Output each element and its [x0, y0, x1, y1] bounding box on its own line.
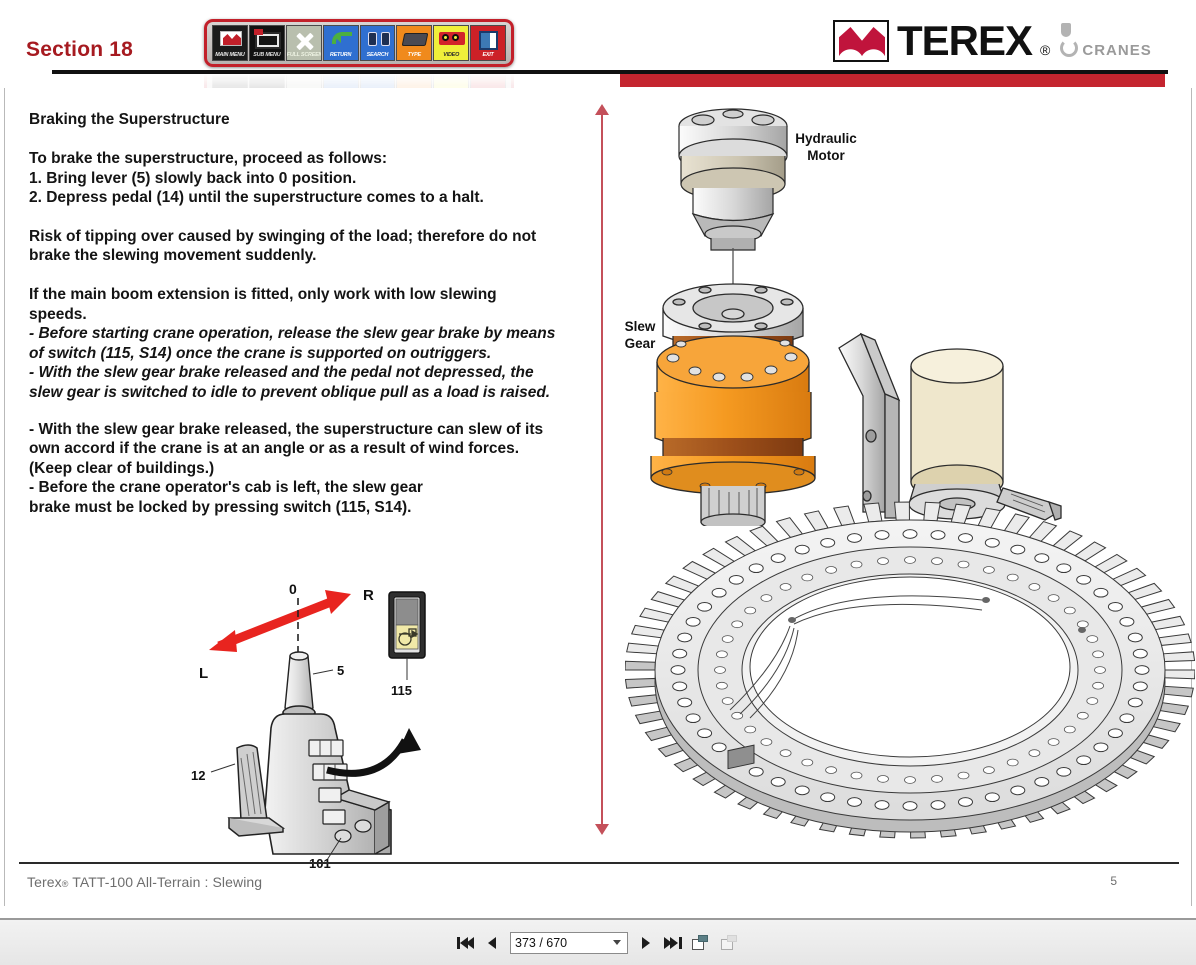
toolbar-button-video[interactable]: VIDEO	[433, 25, 469, 61]
arrow-head-down-icon	[595, 824, 609, 835]
callout-right: R	[363, 587, 374, 604]
document-bullet-1-line-2: of switch (115, S14) once the crane is s…	[29, 344, 585, 364]
page-footer-text: Terex® TATT-100 All-Terrain : Slewing	[27, 874, 262, 890]
page-footer-number: 5	[1110, 874, 1117, 888]
divider-shaft	[601, 112, 603, 827]
document-step-2: 2. Depress pedal (14) until the superstr…	[29, 188, 585, 208]
pdf-navigation-bar: 373 / 670	[0, 918, 1196, 965]
callout-lever: 5	[337, 663, 344, 678]
document-bullet-2-line-2: slew gear is switched to idle to prevent…	[29, 383, 585, 403]
toolbar-button-exit[interactable]: EXIT	[470, 25, 506, 61]
document-bullet-1-line-1: - Before starting crane operation, relea…	[29, 324, 585, 344]
page-number-select[interactable]: 373 / 670	[510, 932, 628, 954]
callout-pedal: 12	[191, 768, 205, 783]
last-page-button[interactable]	[664, 934, 682, 952]
vertical-divider-arrow	[594, 102, 610, 837]
previous-page-button[interactable]	[483, 934, 501, 952]
toolbar-button-full-screen-label: FULL SCREEN	[287, 52, 321, 60]
toolbar-button-return-label: RETURN	[324, 52, 358, 60]
toolbar-button-exit-label: EXIT	[471, 52, 505, 60]
chevron-down-icon	[613, 940, 621, 945]
registered-mark: ®	[1040, 42, 1050, 62]
toolbar-button-return[interactable]: RETURN	[323, 25, 359, 61]
document-heading: Braking the Superstructure	[29, 110, 585, 130]
toolbar-button-video-label: VIDEO	[434, 52, 468, 60]
crane-hook-icon	[1058, 21, 1074, 61]
document-bullet-3-line-3: (Keep clear of buildings.)	[29, 459, 585, 479]
terex-crown-icon	[833, 20, 889, 62]
next-page-button[interactable]	[637, 934, 655, 952]
document-warning-line-1: Risk of tipping over caused by swinging …	[29, 227, 585, 247]
section-title: Section 18	[26, 38, 133, 62]
label-hydraulic-motor: Hydraulic Motor	[771, 130, 881, 164]
hide-panel-button[interactable]	[720, 934, 740, 952]
header-accent-bar	[620, 74, 1165, 87]
document-bullet-3-line-1: - With the slew gear brake released, the…	[29, 420, 585, 440]
toolbar-button-type-label: TYPE	[397, 52, 431, 60]
figure-slew-ring-gear	[625, 488, 1195, 858]
toolbar-button-full-screen[interactable]: FULL SCREEN	[286, 25, 322, 61]
terex-logo: TEREX ® CRANES	[833, 20, 1152, 62]
console-body	[265, 714, 391, 854]
first-page-button[interactable]	[456, 934, 474, 952]
figure-slew-brake-switch: 115	[381, 590, 437, 700]
terex-wordmark: TEREX	[897, 20, 1032, 62]
toolbar-button-sub-menu[interactable]: SUB MENU	[249, 25, 285, 61]
page-footer-rule	[19, 862, 1179, 864]
document-text-column: Braking the Superstructure To brake the …	[29, 110, 585, 518]
callout-switch: 115	[391, 683, 412, 698]
application-window: Section 18 MAIN MENU SUB MENU FULL SCREE…	[0, 0, 1196, 965]
cranes-wordmark: CRANES	[1082, 42, 1151, 62]
document-bullet-4-line-2: brake must be locked by pressing switch …	[29, 498, 585, 518]
document-bullet-4-line-1: - Before the crane operator's cab is lef…	[29, 478, 585, 498]
toolbar-button-main-menu[interactable]: MAIN MENU	[212, 25, 248, 61]
toolbar-button-main-menu-label: MAIN MENU	[213, 52, 247, 60]
callout-left: L	[199, 665, 208, 682]
document-note-line-2: speeds.	[29, 305, 585, 325]
direction-arrow-icon	[209, 590, 351, 652]
toolbar-button-search[interactable]: SEARCH	[360, 25, 396, 61]
label-slew-gear: Slew Gear	[612, 318, 668, 352]
document-bullet-3-line-2: own accord if the crane is at an angle o…	[29, 439, 585, 459]
viewer-toolbar: MAIN MENU SUB MENU FULL SCREEN	[204, 19, 514, 71]
toolbar-button-search-label: SEARCH	[361, 52, 395, 60]
document-intro: To brake the superstructure, proceed as …	[29, 149, 585, 169]
document-step-1: 1. Bring lever (5) slowly back into 0 po…	[29, 169, 585, 189]
toolbar-button-type[interactable]: TYPE	[396, 25, 432, 61]
page-number-value: 373 / 670	[515, 936, 567, 950]
callout-zero: 0	[289, 581, 297, 597]
document-page: Braking the Superstructure To brake the …	[4, 88, 1192, 906]
document-note-line-1: If the main boom extension is fitted, on…	[29, 285, 585, 305]
document-bullet-2-line-1: - With the slew gear brake released and …	[29, 363, 585, 383]
show-panel-button[interactable]	[691, 934, 711, 952]
figure-slew-gear-assembly	[615, 96, 1195, 526]
document-warning-line-2: brake the slewing movement suddenly.	[29, 246, 585, 266]
page-header: Section 18 MAIN MENU SUB MENU FULL SCREE…	[0, 0, 1196, 78]
toolbar-button-sub-menu-label: SUB MENU	[250, 52, 284, 60]
